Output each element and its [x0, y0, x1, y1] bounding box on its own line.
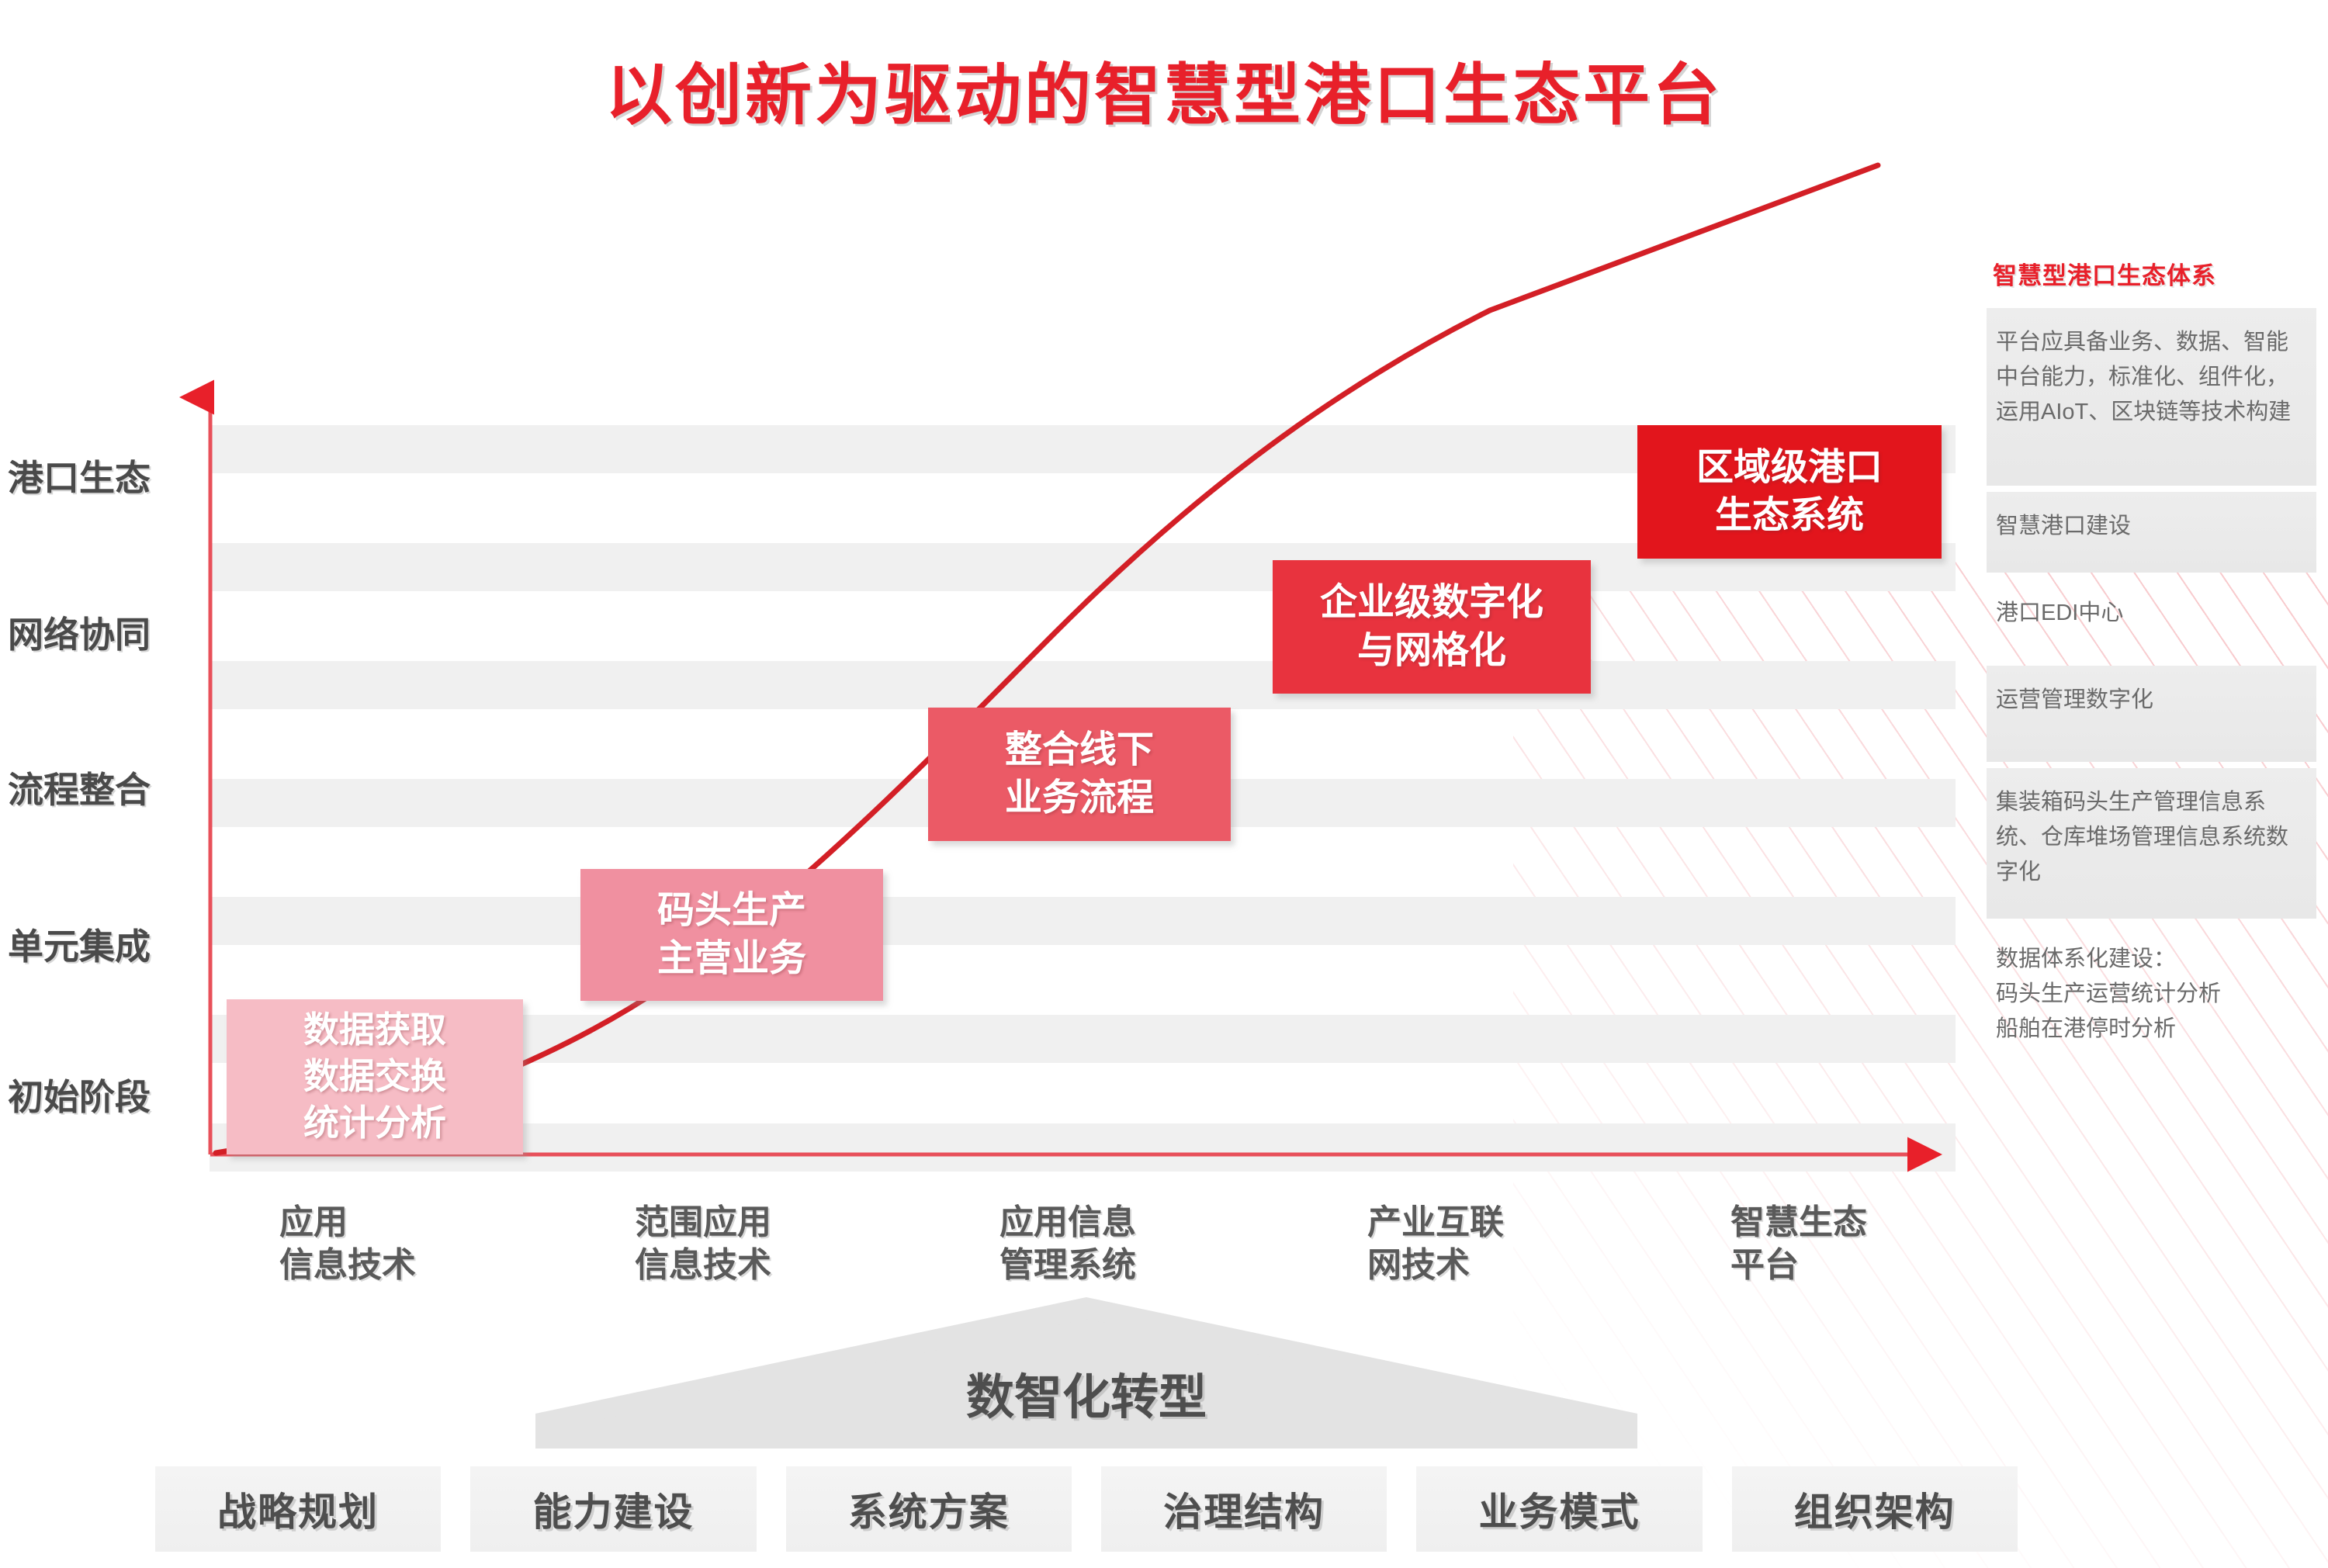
x-axis-label-0-line2: 信息技术 — [279, 1244, 416, 1286]
slide-canvas: 以创新为驱动的智慧型港口生态平台 港口生态 网络协同 流程整合 单元集成 初始阶… — [0, 0, 2328, 1568]
step-box-1-line3: 统计分析 — [227, 1100, 523, 1147]
pillar-1[interactable]: 能力建设 — [470, 1466, 756, 1552]
x-axis-label-0: 应用 信息技术 — [279, 1201, 416, 1286]
x-axis-label-1: 范围应用 信息技术 — [635, 1201, 771, 1286]
step-box-5-line2: 生态系统 — [1637, 492, 1942, 540]
chevron-label: 数智化转型 — [535, 1358, 1637, 1428]
step-box-2-line2: 主营业务 — [580, 935, 883, 983]
pillar-3[interactable]: 治理结构 — [1101, 1466, 1387, 1552]
pillar-2[interactable]: 系统方案 — [786, 1466, 1072, 1552]
x-axis-label-4-line2: 平台 — [1730, 1244, 1867, 1286]
x-axis-label-2-line2: 管理系统 — [999, 1244, 1136, 1286]
step-box-5[interactable]: 区域级港口 生态系统 — [1637, 425, 1942, 559]
step-box-2[interactable]: 码头生产 主营业务 — [580, 869, 883, 1001]
panel-title: 智慧型港口生态体系 — [1993, 256, 2316, 291]
x-axis-label-2: 应用信息 管理系统 — [999, 1201, 1136, 1286]
x-axis-label-1-line2: 信息技术 — [635, 1244, 771, 1286]
panel-item-5[interactable]: 数据体系化建设： 码头生产运营统计分析 船舶在港停时分析 — [1987, 925, 2316, 1075]
x-axis-label-0-line1: 应用 — [279, 1201, 416, 1244]
step-box-3-line2: 业务流程 — [928, 774, 1231, 822]
pillar-4[interactable]: 业务模式 — [1416, 1466, 1702, 1552]
x-axis-label-3: 产业互联 网技术 — [1367, 1201, 1504, 1286]
step-box-1-line2: 数据交换 — [227, 1054, 523, 1100]
step-box-2-line1: 码头生产 — [580, 887, 883, 935]
ecosystem-panel: 智慧型港口生态体系 平台应具备业务、数据、智能中台能力，标准化、组件化，运用AI… — [1987, 256, 2316, 1082]
x-axis-label-1-line1: 范围应用 — [635, 1201, 771, 1244]
step-box-3[interactable]: 整合线下 业务流程 — [928, 708, 1231, 841]
panel-item-4[interactable]: 集装箱码头生产管理信息系统、仓库堆场管理信息系统数字化 — [1987, 768, 2316, 919]
transformation-chevron: 数智化转型 — [535, 1297, 1637, 1449]
step-box-4-line2: 与网格化 — [1273, 627, 1591, 675]
step-box-4-line1: 企业级数字化 — [1273, 579, 1591, 627]
x-axis-label-4: 智慧生态 平台 — [1730, 1201, 1867, 1286]
x-axis-label-3-line1: 产业互联 — [1367, 1201, 1504, 1244]
panel-item-2[interactable]: 港口EDI中心 — [1987, 579, 2316, 659]
step-box-3-line1: 整合线下 — [928, 726, 1231, 774]
panel-item-0[interactable]: 平台应具备业务、数据、智能中台能力，标准化、组件化，运用AIoT、区块链等技术构… — [1987, 308, 2316, 486]
step-box-4[interactable]: 企业级数字化 与网格化 — [1273, 560, 1591, 694]
pillars-row: 战略规划 能力建设 系统方案 治理结构 业务模式 组织架构 — [155, 1466, 2018, 1552]
pillar-5[interactable]: 组织架构 — [1732, 1466, 2018, 1552]
step-box-1-line1: 数据获取 — [227, 1007, 523, 1054]
panel-item-3[interactable]: 运营管理数字化 — [1987, 666, 2316, 762]
maturity-chart: 港口生态 网络协同 流程整合 单元集成 初始阶段 数据获取 — [0, 0, 1971, 1179]
step-box-5-line1: 区域级港口 — [1637, 444, 1942, 492]
step-box-1[interactable]: 数据获取 数据交换 统计分析 — [227, 999, 523, 1154]
x-axis-label-2-line1: 应用信息 — [999, 1201, 1136, 1244]
panel-item-1[interactable]: 智慧港口建设 — [1987, 492, 2316, 573]
x-axis-label-3-line2: 网技术 — [1367, 1244, 1504, 1286]
x-axis-label-4-line1: 智慧生态 — [1730, 1201, 1867, 1244]
growth-curve-tip — [1490, 165, 1878, 310]
pillar-0[interactable]: 战略规划 — [155, 1466, 441, 1552]
